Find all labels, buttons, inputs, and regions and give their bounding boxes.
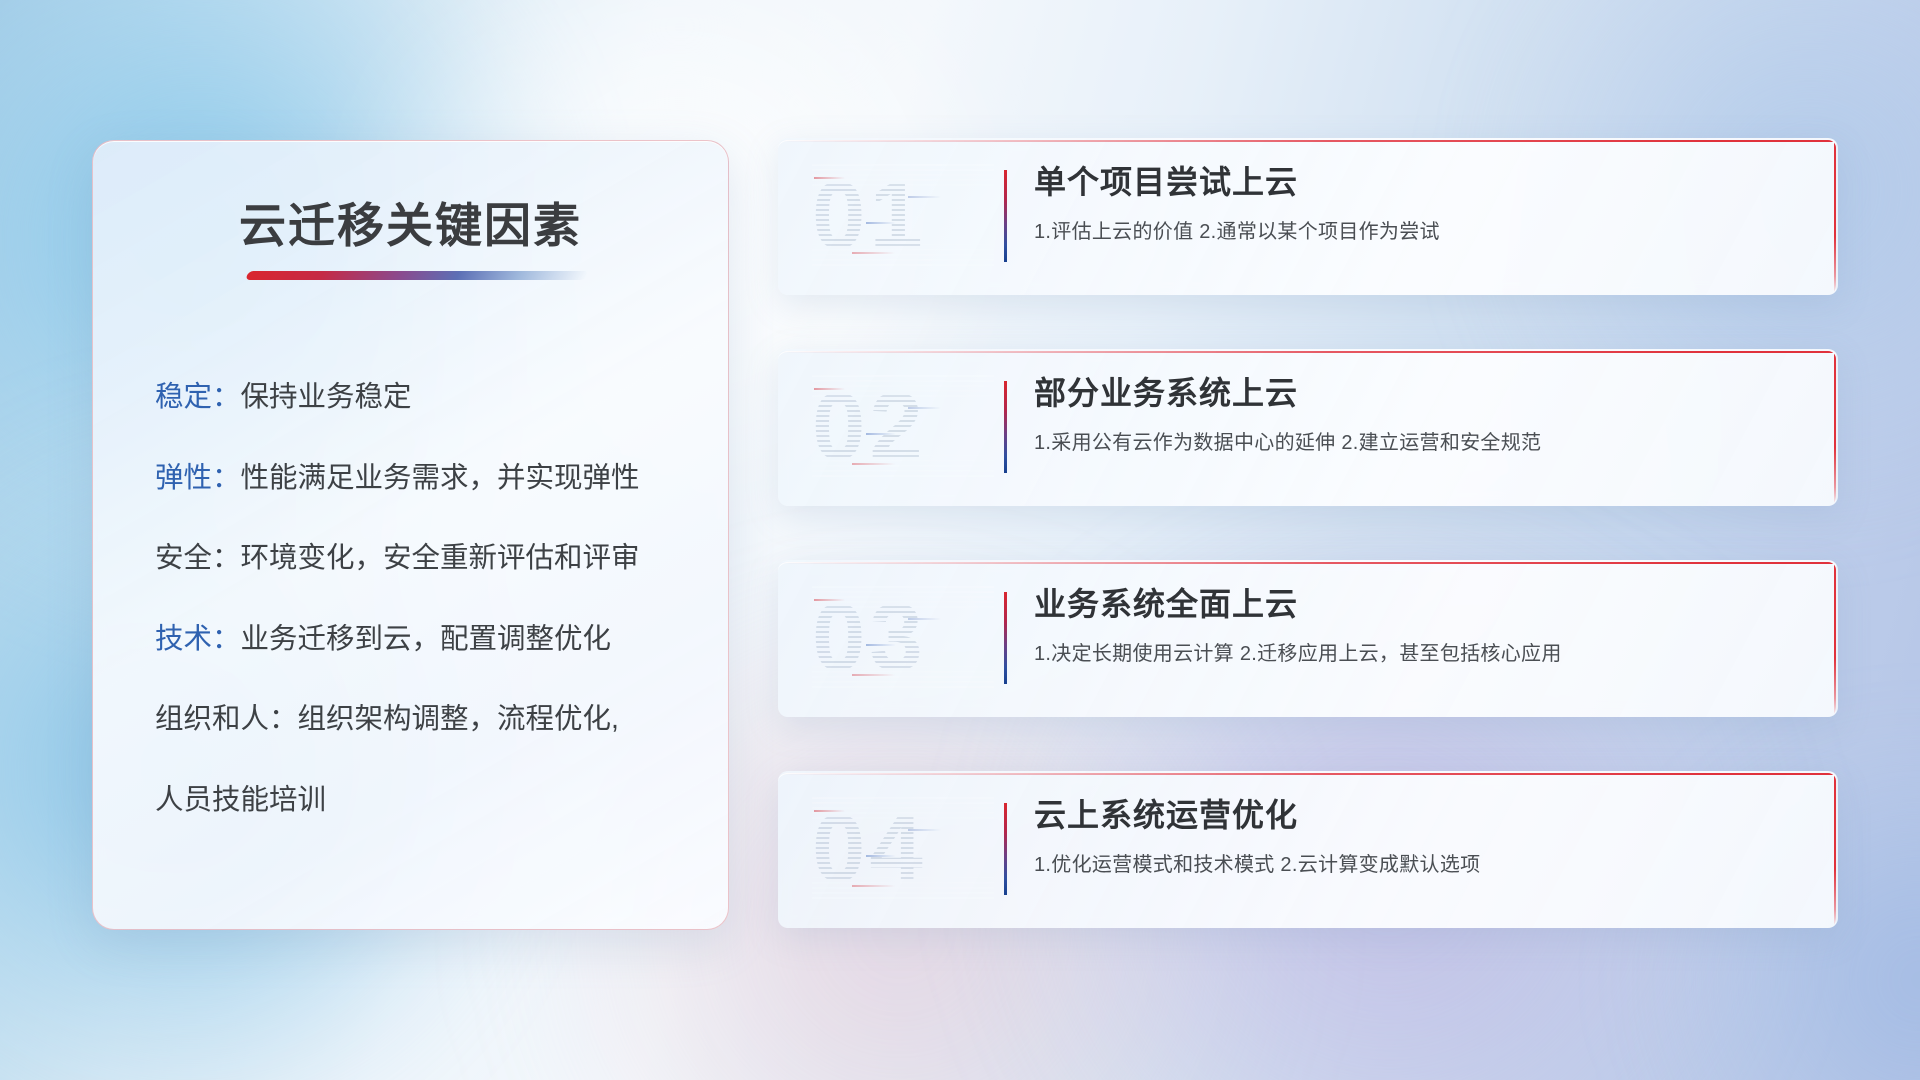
stage-text-block: 部分业务系统上云1.采用公有云作为数据中心的延伸 2.建立运营和安全规范	[1034, 373, 1808, 456]
key-factor-value: 性能满足业务需求，并实现弹性	[241, 462, 640, 494]
page-title: 云迁移关键因素	[93, 187, 728, 256]
key-factor-row: 安全：环境变化，安全重新评估和评审	[155, 544, 688, 573]
stage-description: 1.采用公有云作为数据中心的延伸 2.建立运营和安全规范	[1034, 430, 1808, 456]
key-factor-row: 组织和人：组织架构调整，流程优化,	[155, 705, 688, 734]
key-factor-label: 组织和人：	[155, 703, 298, 735]
migration-stage-card[interactable]: 03业务系统全面上云1.决定长期使用云计算 2.迁移应用上云，甚至包括核心应用	[778, 560, 1838, 717]
stage-number-watermark: 04	[812, 797, 994, 901]
stage-description: 1.评估上云的价值 2.通常以某个项目作为尝试	[1034, 219, 1808, 245]
key-factor-label: 技术：	[155, 623, 241, 655]
key-factor-label: 稳定：	[155, 381, 241, 413]
stage-title: 业务系统全面上云	[1034, 584, 1808, 625]
migration-stage-card[interactable]: 04云上系统运营优化1.优化运营模式和技术模式 2.云计算变成默认选项	[778, 771, 1838, 928]
key-factor-row: 技术：业务迁移到云，配置调整优化	[155, 625, 688, 654]
card-top-accent-border	[778, 773, 1836, 775]
card-top-accent-border	[778, 562, 1836, 564]
card-top-accent-border	[778, 140, 1836, 142]
key-factor-label: 弹性：	[155, 462, 241, 494]
stage-title: 云上系统运营优化	[1034, 795, 1808, 836]
key-factors-card: 云迁移关键因素 稳定：保持业务稳定弹性：性能满足业务需求，并实现弹性安全：环境变…	[92, 140, 729, 930]
stage-divider-bar	[1004, 170, 1007, 262]
stage-number-watermark: 03	[812, 586, 994, 690]
card-right-accent-border	[1834, 351, 1836, 506]
stage-divider-bar	[1004, 803, 1007, 895]
card-right-accent-border	[1834, 562, 1836, 717]
stage-number-watermark: 01	[812, 164, 994, 268]
key-factor-value: 业务迁移到云，配置调整优化	[241, 623, 612, 655]
stage-divider-bar	[1004, 381, 1007, 473]
card-right-accent-border	[1834, 140, 1836, 295]
migration-stage-card[interactable]: 02部分业务系统上云1.采用公有云作为数据中心的延伸 2.建立运营和安全规范	[778, 349, 1838, 506]
slide-canvas: 云迁移关键因素 稳定：保持业务稳定弹性：性能满足业务需求，并实现弹性安全：环境变…	[0, 0, 1920, 1080]
key-factor-value: 组织架构调整，流程优化,	[298, 703, 619, 735]
stage-divider-bar	[1004, 592, 1007, 684]
stage-title: 单个项目尝试上云	[1034, 162, 1808, 203]
key-factors-list: 稳定：保持业务稳定弹性：性能满足业务需求，并实现弹性安全：环境变化，安全重新评估…	[155, 383, 688, 814]
key-factor-value: 人员技能培训	[155, 784, 326, 816]
stage-text-block: 单个项目尝试上云1.评估上云的价值 2.通常以某个项目作为尝试	[1034, 162, 1808, 245]
stage-description: 1.优化运营模式和技术模式 2.云计算变成默认选项	[1034, 852, 1808, 878]
card-top-accent-border	[778, 351, 1836, 353]
key-factor-label: 安全：	[155, 542, 241, 574]
key-factor-row: 人员技能培训	[155, 786, 688, 815]
key-factor-row: 弹性：性能满足业务需求，并实现弹性	[155, 464, 688, 493]
migration-stage-card[interactable]: 01单个项目尝试上云1.评估上云的价值 2.通常以某个项目作为尝试	[778, 138, 1838, 295]
stage-title: 部分业务系统上云	[1034, 373, 1808, 414]
stage-description: 1.决定长期使用云计算 2.迁移应用上云，甚至包括核心应用	[1034, 641, 1808, 667]
stage-number-watermark: 02	[812, 375, 994, 479]
migration-stages-list: 01单个项目尝试上云1.评估上云的价值 2.通常以某个项目作为尝试02部分业务系…	[778, 138, 1838, 928]
key-factor-value: 保持业务稳定	[241, 381, 412, 413]
stage-text-block: 业务系统全面上云1.决定长期使用云计算 2.迁移应用上云，甚至包括核心应用	[1034, 584, 1808, 667]
card-right-accent-border	[1834, 773, 1836, 928]
key-factor-value: 环境变化，安全重新评估和评审	[241, 542, 640, 574]
key-factor-row: 稳定：保持业务稳定	[155, 383, 688, 412]
stage-text-block: 云上系统运营优化1.优化运营模式和技术模式 2.云计算变成默认选项	[1034, 795, 1808, 878]
title-underline-accent	[245, 271, 589, 280]
